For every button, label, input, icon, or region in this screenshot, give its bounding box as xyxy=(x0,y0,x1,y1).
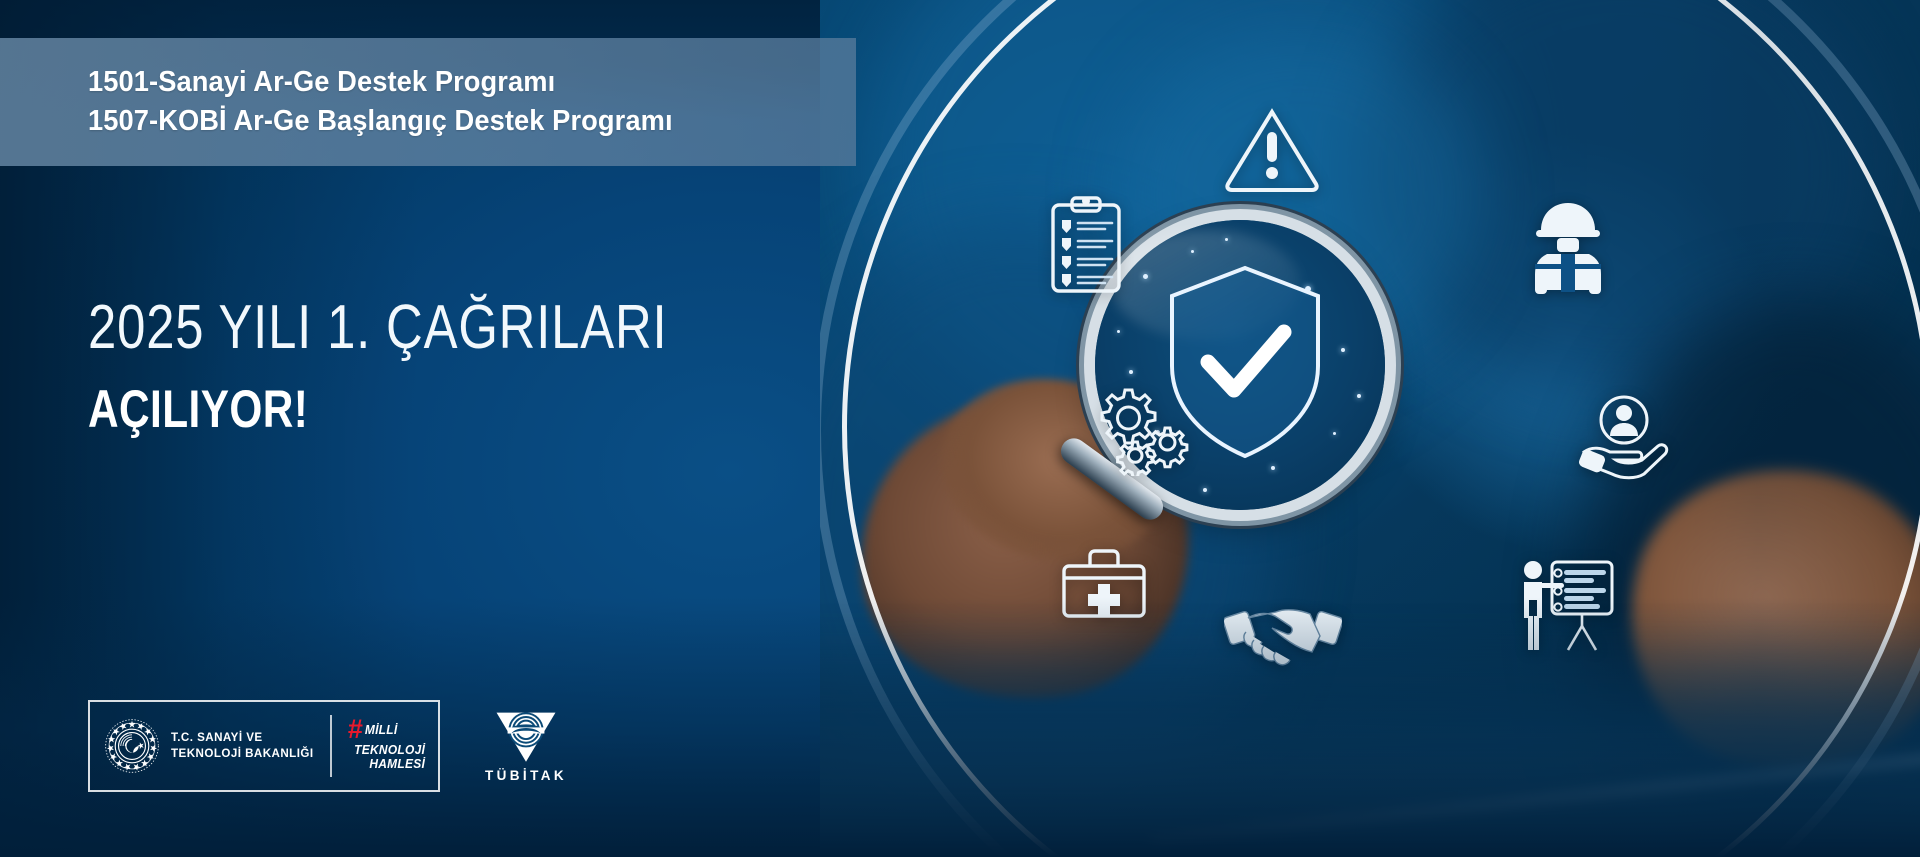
program-names-box: 1501-Sanayi Ar-Ge Destek Programı 1507-K… xyxy=(0,38,856,166)
ministry-logo-text: T.C. SANAYİ VE TEKNOLOJİ BAKANLIĞI xyxy=(171,730,314,763)
hard-hat-worker-icon xyxy=(1531,198,1605,296)
turkish-ministry-crest-icon xyxy=(104,718,160,774)
gears-icon xyxy=(1095,384,1191,476)
mth-line-2: TEKNOLOJİ xyxy=(354,743,425,757)
program-line-1507: 1507-KOBİ Ar-Ge Başlangıç Destek Program… xyxy=(88,102,810,141)
tubitak-logo: TÜBİTAK xyxy=(466,700,586,792)
headline-main: 2025 YILI 1. ÇAĞRILARI xyxy=(88,295,826,360)
mth-line-1: MİLLİ xyxy=(364,723,397,737)
warning-triangle-icon xyxy=(1224,106,1320,192)
headline-block: 2025 YILI 1. ÇAĞRILARI AÇILIYOR! xyxy=(88,295,988,438)
clipboard-checklist-icon xyxy=(1050,196,1122,294)
logo-bar: T.C. SANAYİ VE TEKNOLOJİ BAKANLIĞI # MİL… xyxy=(88,700,440,792)
ministry-line-1: T.C. SANAYİ VE xyxy=(171,730,314,746)
promo-banner: 1501-Sanayi Ar-Ge Destek Programı 1507-K… xyxy=(0,0,1920,857)
tubitak-label: TÜBİTAK xyxy=(485,768,567,783)
milli-teknoloji-hamlesi-logo: # MİLLİ TEKNOLOJİ HAMLESİ xyxy=(332,722,435,771)
mth-line-3: HAMLESİ xyxy=(354,757,425,771)
first-aid-kit-icon xyxy=(1060,548,1148,620)
tubitak-triangle-icon xyxy=(495,709,557,763)
presentation-board-icon xyxy=(1520,558,1616,654)
ministry-line-2: TEKNOLOJİ BAKANLIĞI xyxy=(171,746,314,762)
ministry-logo: T.C. SANAYİ VE TEKNOLOJİ BAKANLIĞI xyxy=(90,718,314,774)
handshake-icon xyxy=(1224,598,1342,670)
hashtag-icon: # xyxy=(348,714,362,744)
program-line-1501: 1501-Sanayi Ar-Ge Destek Programı xyxy=(88,63,810,102)
headline-sub: AÇILIYOR! xyxy=(88,382,808,438)
person-in-hand-icon xyxy=(1578,394,1674,480)
